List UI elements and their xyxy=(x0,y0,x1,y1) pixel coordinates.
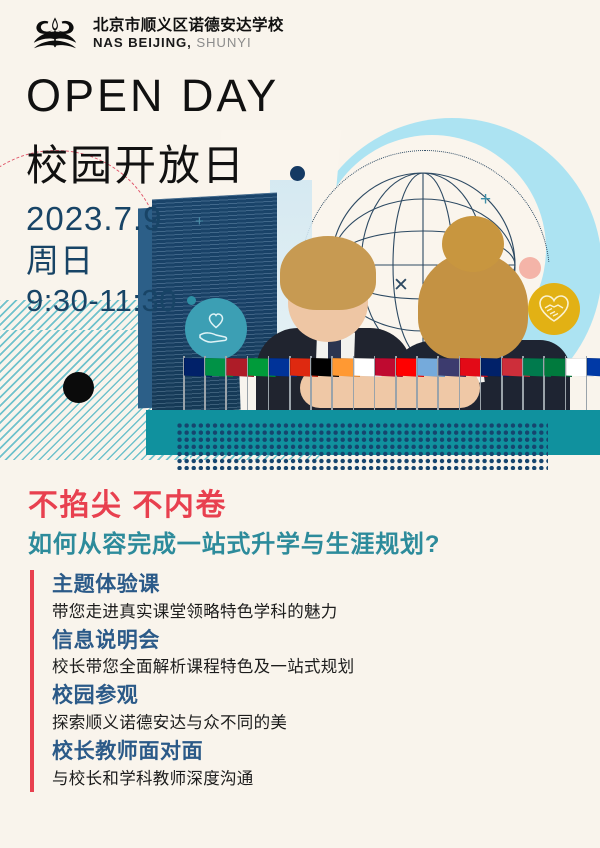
flag xyxy=(573,356,600,414)
dot-grid-pattern xyxy=(176,422,548,470)
subheadline-text: 如何从容完成一站式升学与生涯规划? xyxy=(28,524,440,559)
heart-in-hand-icon xyxy=(196,310,236,348)
agenda-item: 信息说明会校长带您全面解析课程特色及一站式规划 xyxy=(52,626,592,681)
school-name-en: NAS BEIJING, SHUNYI xyxy=(93,36,284,50)
school-name-en-bold: NAS BEIJING, xyxy=(93,35,192,50)
heart-in-hand-badge xyxy=(185,298,247,360)
page-title-en: OPEN DAY xyxy=(26,70,279,122)
agenda-item-title: 校园参观 xyxy=(52,681,592,711)
school-name-en-light: SHUNYI xyxy=(196,35,251,50)
event-date: 2023.7.9 xyxy=(26,198,177,240)
agenda-item: 校园参观探索顺义诺德安达与众不同的美 xyxy=(52,681,592,736)
headline-text: 不掐尖 不内卷 xyxy=(28,480,227,524)
school-name-cn: 北京市顺义区诺德安达学校 xyxy=(93,18,284,35)
plus-accent-icon-2: + xyxy=(480,190,491,209)
agenda-item-desc: 校长带您全面解析课程特色及一站式规划 xyxy=(52,655,592,680)
event-weekday: 周日 xyxy=(26,240,177,282)
page-title-cn: 校园开放日 xyxy=(26,132,246,193)
agenda-item-title: 信息说明会 xyxy=(52,626,592,656)
agenda-item-desc: 与校长和学科教师深度沟通 xyxy=(52,767,592,792)
agenda-item-title: 主题体验课 xyxy=(52,570,592,600)
agenda-item-title: 校长教师面对面 xyxy=(52,737,592,767)
navy-dot-accent xyxy=(290,166,305,181)
teal-dot-accent xyxy=(187,296,196,305)
crown-book-logo-icon xyxy=(26,14,84,54)
agenda-list: 主题体验课带您走进真实课堂领略特色学科的魅力信息说明会校长带您全面解析课程特色及… xyxy=(30,570,592,792)
international-flags-row xyxy=(170,352,600,414)
agenda-item-desc: 探索顺义诺德安达与众不同的美 xyxy=(52,711,592,736)
school-name-block: 北京市顺义区诺德安达学校 NAS BEIJING, SHUNYI xyxy=(93,18,284,51)
agenda-item: 主题体验课带您走进真实课堂领略特色学科的魅力 xyxy=(52,570,592,625)
handshake-heart-badge xyxy=(528,283,580,335)
girl-hair-bun xyxy=(442,216,504,272)
agenda-item-desc: 带您走进真实课堂领略特色学科的魅力 xyxy=(52,600,592,625)
plus-accent-icon: + xyxy=(195,214,204,229)
boy-hair xyxy=(280,236,376,310)
flag-cloth xyxy=(587,358,600,377)
x-accent-icon: ✕ xyxy=(393,276,409,295)
handshake-heart-icon xyxy=(537,293,571,325)
black-dot-accent xyxy=(63,372,94,403)
event-datetime-block: 2023.7.9 周日 9:30-11:30 xyxy=(26,198,177,320)
event-time: 9:30-11:30 xyxy=(26,281,177,320)
agenda-item: 校长教师面对面与校长和学科教师深度沟通 xyxy=(52,737,592,792)
school-logo-row: 北京市顺义区诺德安达学校 NAS BEIJING, SHUNYI xyxy=(26,14,284,54)
pink-dot-accent xyxy=(519,257,541,279)
open-day-poster: + + ✕ xyxy=(0,0,600,848)
